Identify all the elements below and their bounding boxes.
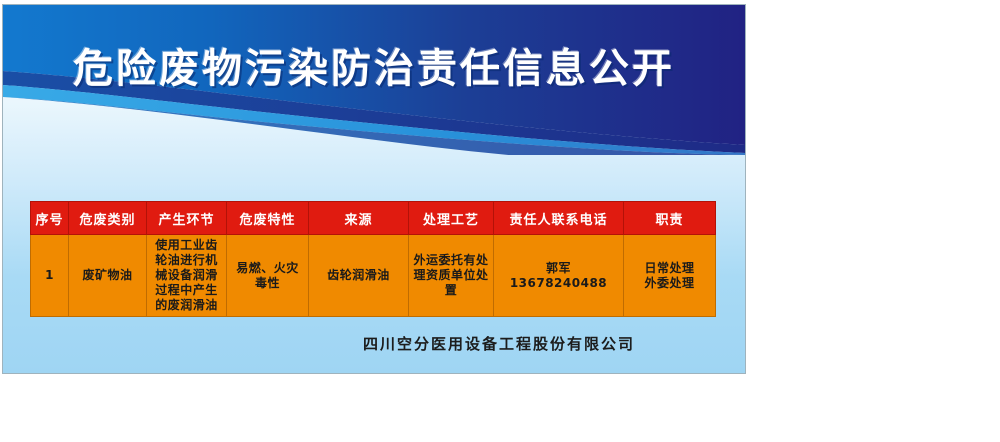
col-header-duty: 职责 bbox=[624, 202, 716, 235]
col-header-responsible-phone: 责任人联系电话 bbox=[494, 202, 624, 235]
poster-board: 危险废物污染防治责任信息公开 序号 危废 bbox=[3, 5, 745, 373]
responsible-person-name: 郭军 bbox=[498, 261, 619, 276]
cell-responsible-contact: 郭军 13678240488 bbox=[494, 235, 624, 317]
cell-duty: 日常处理 外委处理 bbox=[624, 235, 716, 317]
banner-wave-graphic bbox=[3, 5, 745, 155]
cell-source: 齿轮润滑油 bbox=[309, 235, 409, 317]
col-header-treatment-process: 处理工艺 bbox=[409, 202, 494, 235]
company-name: 四川空分医用设备工程股份有限公司 bbox=[3, 333, 745, 354]
cell-category: 废矿物油 bbox=[69, 235, 147, 317]
cell-index: 1 bbox=[31, 235, 69, 317]
cell-treatment-process: 外运委托有处理资质单位处置 bbox=[409, 235, 494, 317]
responsible-person-phone: 13678240488 bbox=[498, 276, 619, 291]
table-header-row: 序号 危废类别 产生环节 危废特性 来源 处理工艺 责任人联系电话 职责 bbox=[31, 202, 716, 235]
screenshot-root: 危险废物污染防治责任信息公开 序号 危废 bbox=[0, 0, 1000, 442]
col-header-index: 序号 bbox=[31, 202, 69, 235]
duty-line-1: 日常处理 bbox=[628, 261, 711, 276]
table-row: 1 废矿物油 使用工业齿轮油进行机械设备润滑过程中产生的废润滑油 易燃、火灾毒性… bbox=[31, 235, 716, 317]
cell-hazard-property: 易燃、火灾毒性 bbox=[227, 235, 309, 317]
col-header-hazard-property: 危废特性 bbox=[227, 202, 309, 235]
header-banner: 危险废物污染防治责任信息公开 bbox=[3, 5, 745, 155]
col-header-generation-stage: 产生环节 bbox=[147, 202, 227, 235]
col-header-source: 来源 bbox=[309, 202, 409, 235]
col-header-category: 危废类别 bbox=[69, 202, 147, 235]
duty-line-2: 外委处理 bbox=[628, 276, 711, 291]
cell-generation-stage: 使用工业齿轮油进行机械设备润滑过程中产生的废润滑油 bbox=[147, 235, 227, 317]
hazardous-waste-table-wrap: 序号 危废类别 产生环节 危废特性 来源 处理工艺 责任人联系电话 职责 1 废… bbox=[30, 201, 716, 317]
hazardous-waste-table: 序号 危废类别 产生环节 危废特性 来源 处理工艺 责任人联系电话 职责 1 废… bbox=[30, 201, 716, 317]
company-name-text: 四川空分医用设备工程股份有限公司 bbox=[363, 333, 635, 354]
